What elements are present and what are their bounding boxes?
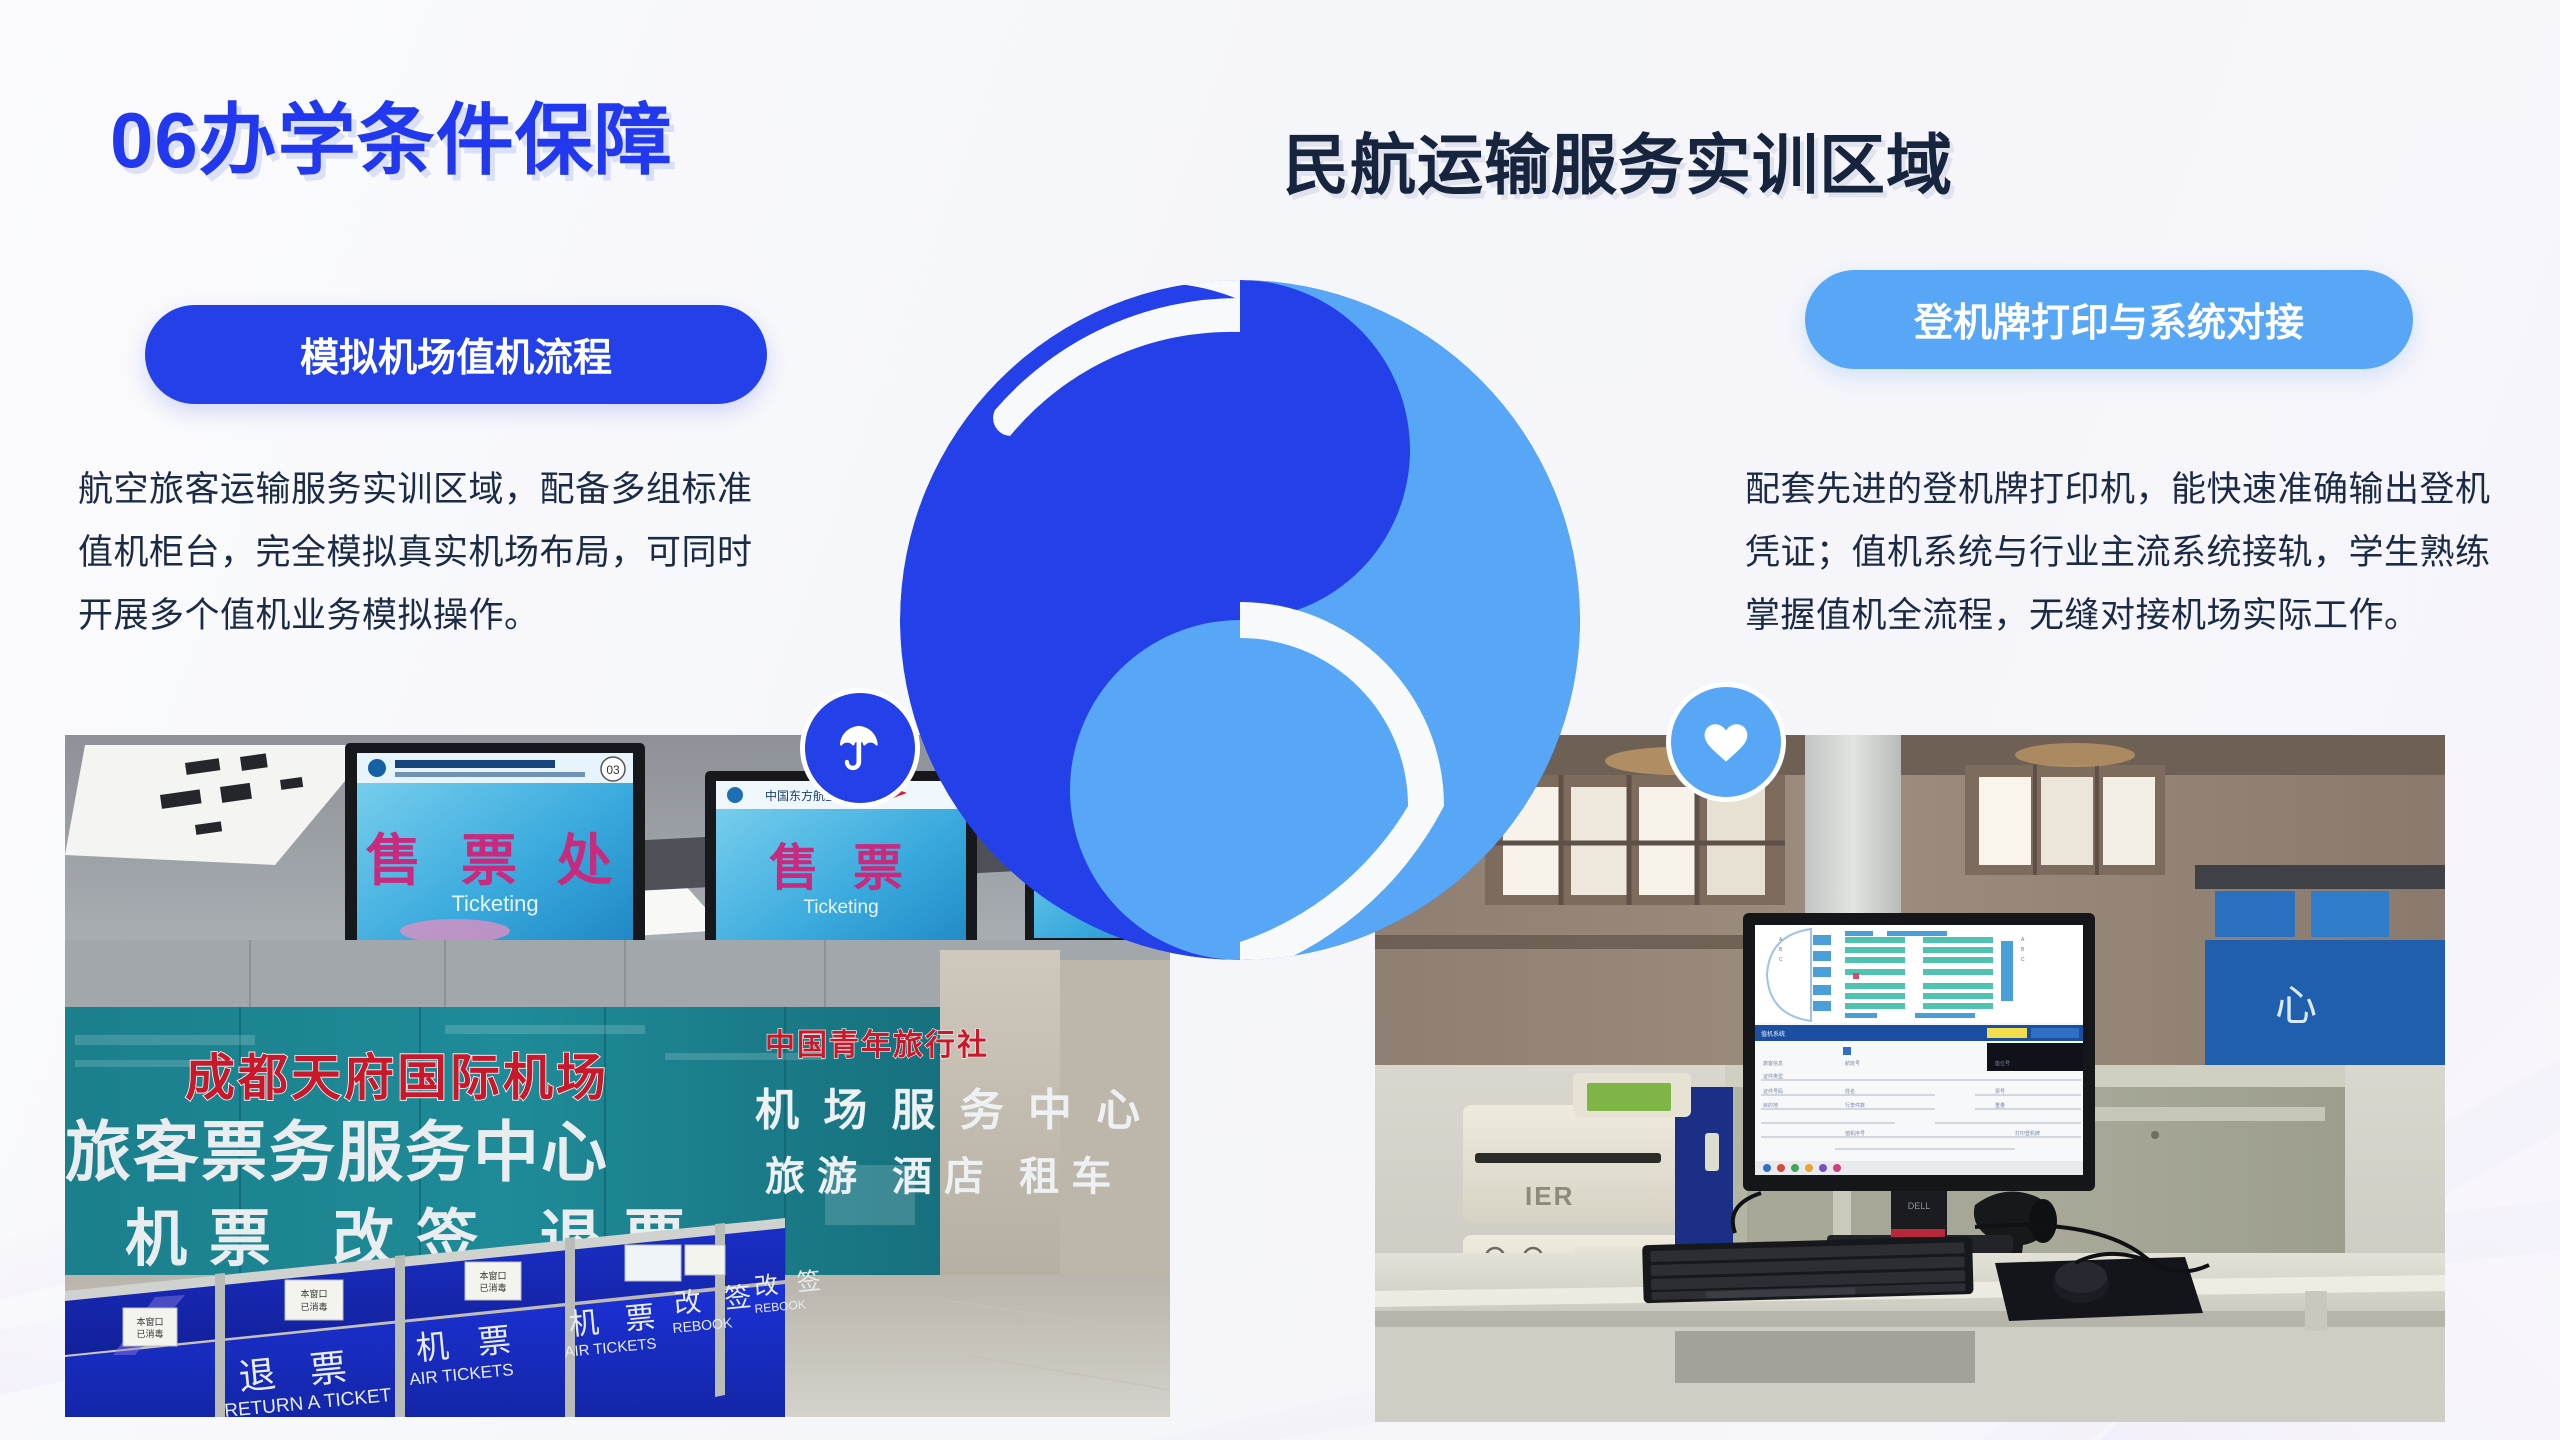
heart-icon [1666, 682, 1786, 802]
badge-label: 登机牌打印与系统对接 [1914, 292, 2304, 348]
svg-text:座位号: 座位号 [1995, 1060, 2010, 1067]
svg-text:目的地: 目的地 [1763, 1102, 1778, 1109]
paragraph-line: 凭证；值机系统与行业主流系统接轨，学生熟练 [1745, 521, 2545, 584]
svg-text:已消毒: 已消毒 [479, 1282, 506, 1293]
badge-label: 模拟机场值机流程 [300, 327, 612, 383]
svg-text:航班号: 航班号 [1845, 1060, 1860, 1067]
svg-text:旅客信息: 旅客信息 [1763, 1060, 1783, 1067]
svg-text:DELL: DELL [1908, 1201, 1931, 1211]
paragraph-line: 配套先进的登机牌打印机，能快速准确输出登机 [1745, 458, 2545, 521]
paragraph-line: 开展多个值机业务模拟操作。 [78, 584, 868, 647]
right-description-paragraph: 配套先进的登机牌打印机，能快速准确输出登机 凭证；值机系统与行业主流系统接轨，学… [1745, 458, 2545, 647]
svg-text:机 场 服 务 中 心: 机 场 服 务 中 心 [755, 1086, 1146, 1135]
svg-text:票号: 票号 [1995, 1089, 2005, 1095]
paragraph-line: 值机柜台，完全模拟真实机场布局，可同时 [78, 521, 868, 584]
svg-text:本窗口: 本窗口 [136, 1316, 163, 1327]
svg-text:Ticketing: Ticketing [451, 891, 538, 916]
left-description-paragraph: 航空旅客运输服务实训区域，配备多组标准 值机柜台，完全模拟真实机场布局，可同时 … [78, 458, 868, 647]
badge-simulated-checkin-process[interactable]: 模拟机场值机流程 [145, 305, 767, 404]
section-number-title: 06办学条件保障 [110, 78, 673, 190]
svg-text:03: 03 [606, 763, 620, 777]
svg-text:值机序号: 值机序号 [1845, 1130, 1865, 1137]
svg-text:成都天府国际机场: 成都天府国际机场 [185, 1050, 609, 1106]
svg-text:旅客票务服务中心: 旅客票务服务中心 [65, 1115, 609, 1189]
badge-boarding-pass-printing[interactable]: 登机牌打印与系统对接 [1805, 270, 2413, 369]
svg-text:行李件数: 行李件数 [1845, 1102, 1865, 1109]
paragraph-line: 航空旅客运输服务实训区域，配备多组标准 [78, 458, 868, 521]
svg-text:本窗口: 本窗口 [300, 1288, 327, 1299]
svg-text:C: C [2021, 957, 2025, 963]
svg-text:打印登机牌: 打印登机牌 [2015, 1130, 2040, 1137]
svg-text:C: C [1779, 957, 1783, 963]
svg-text:已消毒: 已消毒 [300, 1301, 327, 1312]
svg-text:已消毒: 已消毒 [136, 1328, 163, 1339]
svg-text:证件类型: 证件类型 [1763, 1073, 1783, 1080]
svg-text:本窗口: 本窗口 [479, 1270, 506, 1281]
svg-text:值机系统: 值机系统 [1761, 1030, 1785, 1038]
svg-text:IER: IER [1525, 1181, 1574, 1211]
paragraph-line: 掌握值机全流程，无缝对接机场实际工作。 [1745, 584, 2545, 647]
umbrella-icon [800, 688, 920, 808]
svg-text:旅游 酒店 租车: 旅游 酒店 租车 [765, 1155, 1123, 1199]
svg-text:证件号码: 证件号码 [1763, 1088, 1783, 1095]
yin-yang-emblem [770, 150, 1710, 1090]
svg-text:售 票 处: 售 票 处 [365, 829, 624, 892]
svg-text:姓名: 姓名 [1845, 1088, 1855, 1095]
svg-text:心: 心 [2275, 982, 2317, 1029]
svg-text:重量: 重量 [1995, 1102, 2005, 1109]
page-title: 民航运输服务实训区域 [1283, 112, 1953, 208]
